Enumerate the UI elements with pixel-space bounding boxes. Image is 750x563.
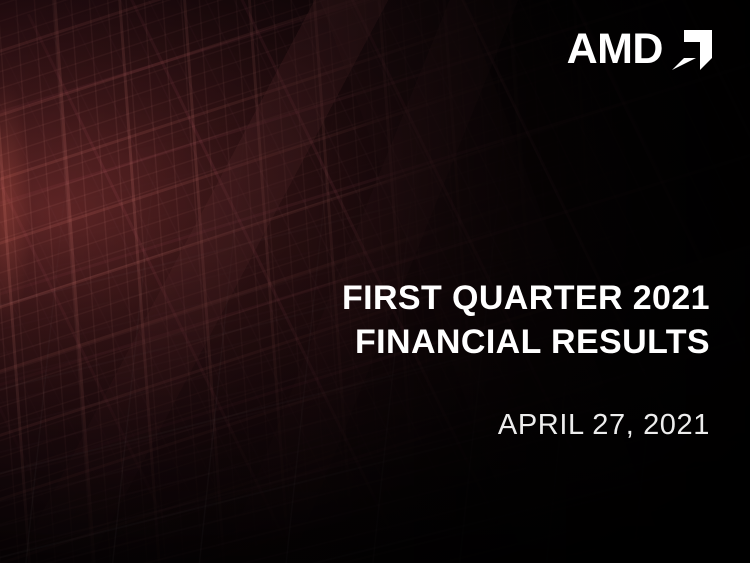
presentation-slide: AMD FIRST QUARTER 2021 FINANCIAL RESULTS… (0, 0, 750, 563)
amd-arrow-icon (672, 30, 712, 70)
slide-title-line-1: FIRST QUARTER 2021 (150, 277, 710, 321)
slide-title-line-2: FINANCIAL RESULTS (150, 321, 710, 365)
slide-title: FIRST QUARTER 2021 FINANCIAL RESULTS (150, 277, 710, 364)
amd-wordmark: AMD (567, 28, 663, 71)
amd-logo: AMD (567, 28, 712, 71)
slide-date: APRIL 27, 2021 (150, 408, 710, 443)
